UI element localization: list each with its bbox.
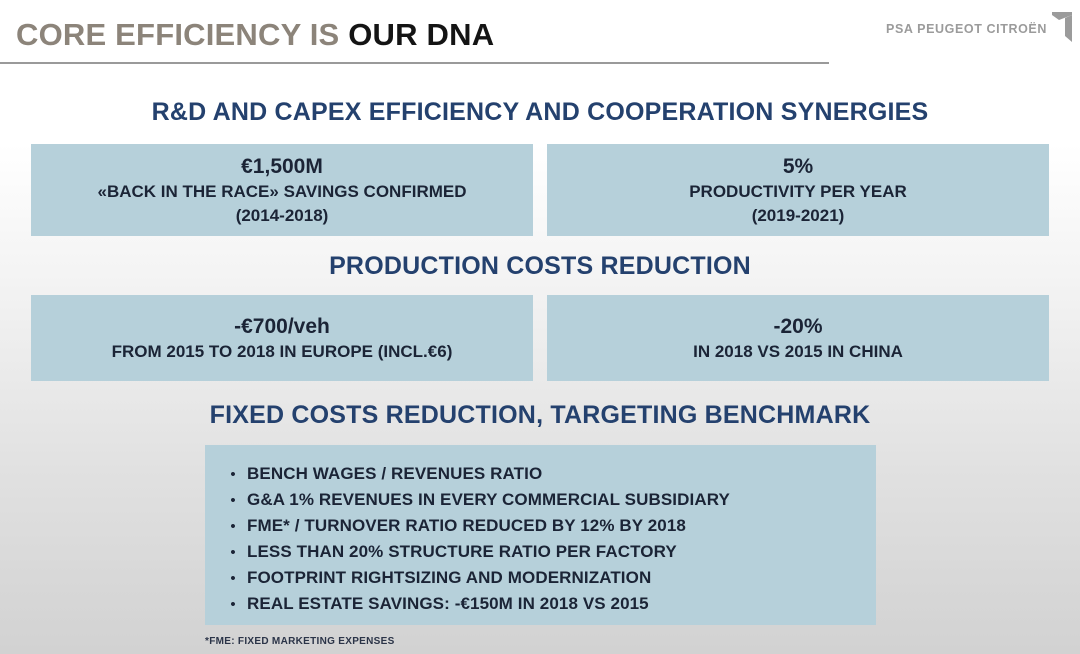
fact-desc: FROM 2015 TO 2018 IN EUROPE (INCL.€6) (112, 340, 453, 364)
fact-desc: «BACK IN THE RACE» SAVINGS CONFIRMED (98, 180, 467, 204)
fixed-costs-bullet-panel: • BENCH WAGES / REVENUES RATIO • G&A 1% … (205, 445, 876, 625)
psa-chevron-icon (1050, 12, 1072, 42)
bullet-dot-icon: • (219, 540, 247, 566)
list-item: • REAL ESTATE SAVINGS: -€150M IN 2018 VS… (213, 591, 876, 617)
header-divider (0, 62, 829, 64)
list-item-label: LESS THAN 20% STRUCTURE RATIO PER FACTOR… (247, 539, 677, 565)
page-title-strong: OUR DNA (348, 17, 494, 52)
fact-value: €1,500M (241, 153, 323, 180)
list-item: • BENCH WAGES / REVENUES RATIO (213, 461, 876, 487)
fact-box-china-cost: -20% IN 2018 VS 2015 IN CHINA (547, 295, 1049, 381)
fact-value: 5% (783, 153, 813, 180)
list-item: • G&A 1% REVENUES IN EVERY COMMERCIAL SU… (213, 487, 876, 513)
list-item: • FOOTPRINT RIGHTSIZING AND MODERNIZATIO… (213, 565, 876, 591)
list-item: • FME* / TURNOVER RATIO REDUCED BY 12% B… (213, 513, 876, 539)
page-title-light: CORE EFFICIENCY IS (16, 17, 348, 52)
brand-logo: PSA PEUGEOT CITROËN (886, 12, 1072, 42)
fact-value: -€700/veh (234, 313, 330, 340)
fact-box-europe-cost: -€700/veh FROM 2015 TO 2018 IN EUROPE (I… (31, 295, 533, 381)
page-title: CORE EFFICIENCY IS OUR DNA (16, 17, 494, 53)
fixed-costs-bullet-list: • BENCH WAGES / REVENUES RATIO • G&A 1% … (205, 461, 876, 617)
list-item-label: BENCH WAGES / REVENUES RATIO (247, 461, 542, 487)
list-item-label: REAL ESTATE SAVINGS: -€150M IN 2018 VS 2… (247, 591, 649, 617)
fact-desc: IN 2018 VS 2015 IN CHINA (693, 340, 903, 364)
section-heading-fixed-costs: FIXED COSTS REDUCTION, TARGETING BENCHMA… (0, 401, 1080, 430)
bullet-dot-icon: • (219, 462, 247, 488)
fact-desc: PRODUCTIVITY PER YEAR (689, 180, 907, 204)
bullet-dot-icon: • (219, 488, 247, 514)
fact-period: (2014-2018) (236, 204, 329, 228)
fact-box-productivity: 5% PRODUCTIVITY PER YEAR (2019-2021) (547, 144, 1049, 236)
fact-value: -20% (773, 313, 822, 340)
brand-logo-text: PSA PEUGEOT CITROËN (886, 12, 1047, 36)
footnote-fme: *FME: FIXED MARKETING EXPENSES (205, 636, 395, 647)
bullet-dot-icon: • (219, 514, 247, 540)
fact-box-back-in-the-race: €1,500M «BACK IN THE RACE» SAVINGS CONFI… (31, 144, 533, 236)
list-item-label: FOOTPRINT RIGHTSIZING AND MODERNIZATION (247, 565, 651, 591)
list-item-label: G&A 1% REVENUES IN EVERY COMMERCIAL SUBS… (247, 487, 730, 513)
bullet-dot-icon: • (219, 592, 247, 618)
slide-header: CORE EFFICIENCY IS OUR DNA PSA PEUGEOT C… (0, 0, 1080, 66)
fact-period: (2019-2021) (752, 204, 845, 228)
list-item-label: FME* / TURNOVER RATIO REDUCED BY 12% BY … (247, 513, 686, 539)
slide-canvas: CORE EFFICIENCY IS OUR DNA PSA PEUGEOT C… (0, 0, 1080, 654)
list-item: • LESS THAN 20% STRUCTURE RATIO PER FACT… (213, 539, 876, 565)
bullet-dot-icon: • (219, 566, 247, 592)
section-heading-rd-capex: R&D AND CAPEX EFFICIENCY AND COOPERATION… (0, 98, 1080, 127)
section-heading-production-costs: PRODUCTION COSTS REDUCTION (0, 252, 1080, 281)
